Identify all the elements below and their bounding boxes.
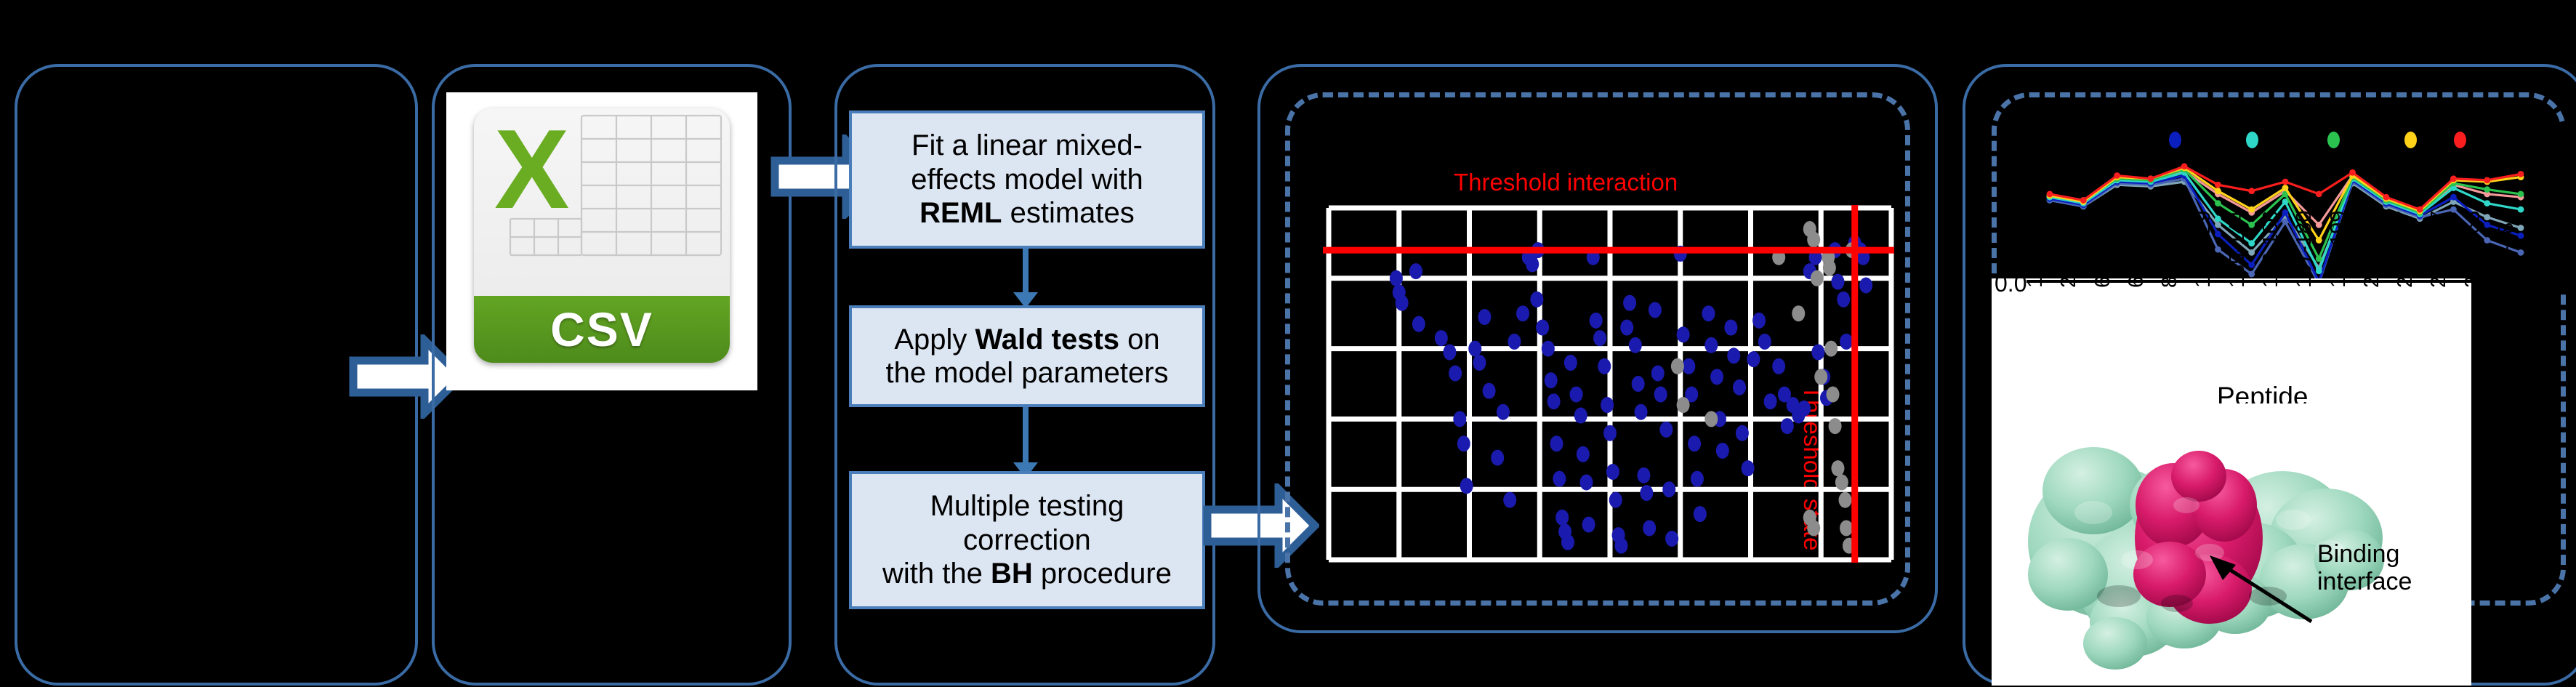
- threshold-interaction-label: Threshold interaction: [1454, 169, 1678, 196]
- legend-dot-4: [2404, 132, 2417, 148]
- connector-wald-to-bh: [1023, 407, 1029, 468]
- csv-x-letter: X: [494, 113, 569, 225]
- legend-dot-1: [2169, 132, 2181, 148]
- csv-format-label: CSV: [550, 302, 653, 357]
- threshold-interaction-scatter-plot: Threshold interaction Threshold state: [1301, 116, 1897, 596]
- legend-dot-2: [2246, 132, 2258, 148]
- binding-interface-line-2: interface: [2317, 568, 2412, 595]
- csv-icon-card: X CSV: [446, 92, 757, 390]
- legend-dot-3: [2327, 132, 2340, 148]
- binding-interface-line-1: Binding: [2317, 540, 2412, 568]
- step-fit-linear-mixed-effects-model: Fit a linear mixed- effects model with R…: [849, 111, 1205, 249]
- scatter-canvas: [1301, 202, 1897, 566]
- csv-file-icon: X CSV: [474, 108, 730, 363]
- step-apply-wald-tests: Apply Wald tests on the model parameters: [849, 305, 1205, 407]
- step-wald-tests-text: Apply Wald tests on the model parameters: [885, 323, 1168, 390]
- binding-interface-annotation: Binding interface: [2317, 540, 2412, 595]
- workflow-diagram: X CSV Fit a linear mixed- effects model …: [0, 0, 2576, 687]
- connector-fit-to-wald: [1023, 249, 1029, 298]
- protein-complex-surface-render: Binding interface: [1992, 403, 2471, 686]
- step-fit-model-text: Fit a linear mixed- effects model with R…: [911, 129, 1143, 230]
- legend-dot-5: [2454, 132, 2466, 148]
- csv-format-band: CSV: [474, 296, 730, 363]
- step-multiple-testing-text: Multiple testing correction with the BH …: [882, 489, 1172, 590]
- peptide-tick-labels: 1-1528-4463-7367-7581-101122-129135-1441…: [1992, 288, 2471, 382]
- step-multiple-testing-correction: Multiple testing correction with the BH …: [849, 471, 1205, 609]
